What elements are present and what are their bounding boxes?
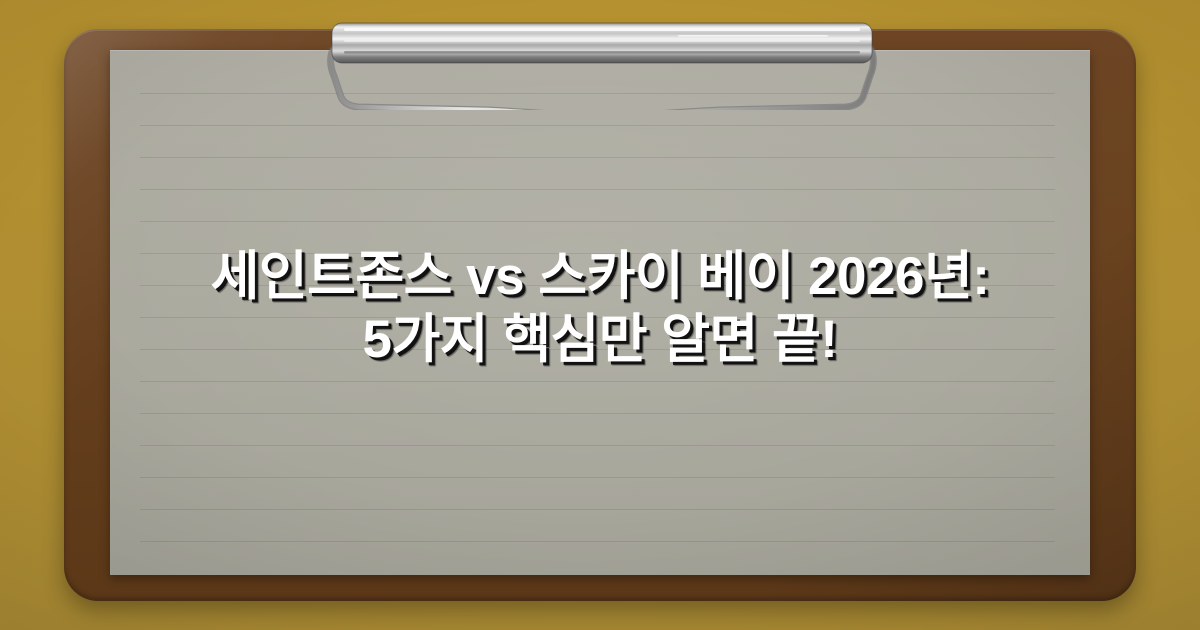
- thumbnail-canvas: 세인트존스 vs 스카이 베이 2026년: 5가지 핵심만 알면 끝!: [0, 0, 1200, 630]
- page-title: 세인트존스 vs 스카이 베이 2026년: 5가지 핵심만 알면 끝!: [110, 246, 1090, 371]
